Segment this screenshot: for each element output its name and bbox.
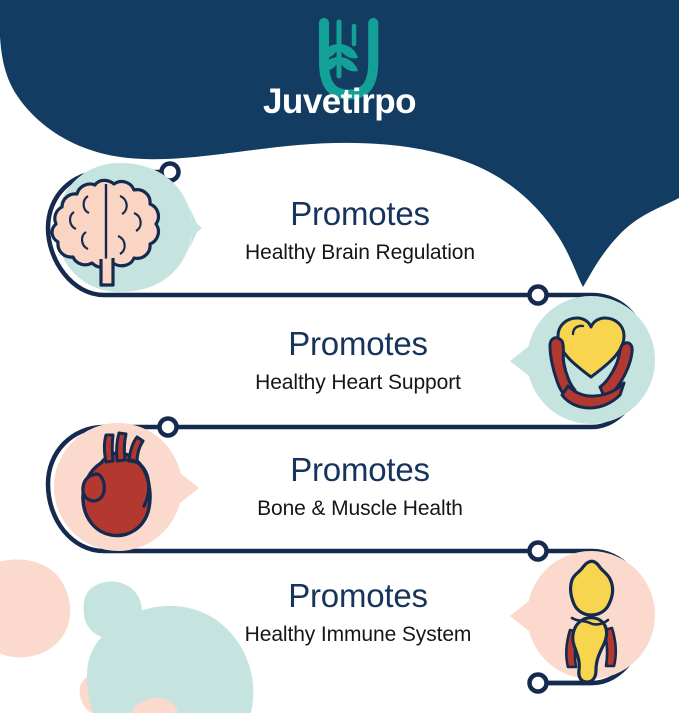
infographic-root: Juvetirpo: [0, 0, 679, 713]
logo-leaf-r2: [339, 57, 358, 71]
brand-wordmark: Juvetirpo: [0, 82, 679, 122]
logo-leaf-r1: [339, 44, 358, 58]
